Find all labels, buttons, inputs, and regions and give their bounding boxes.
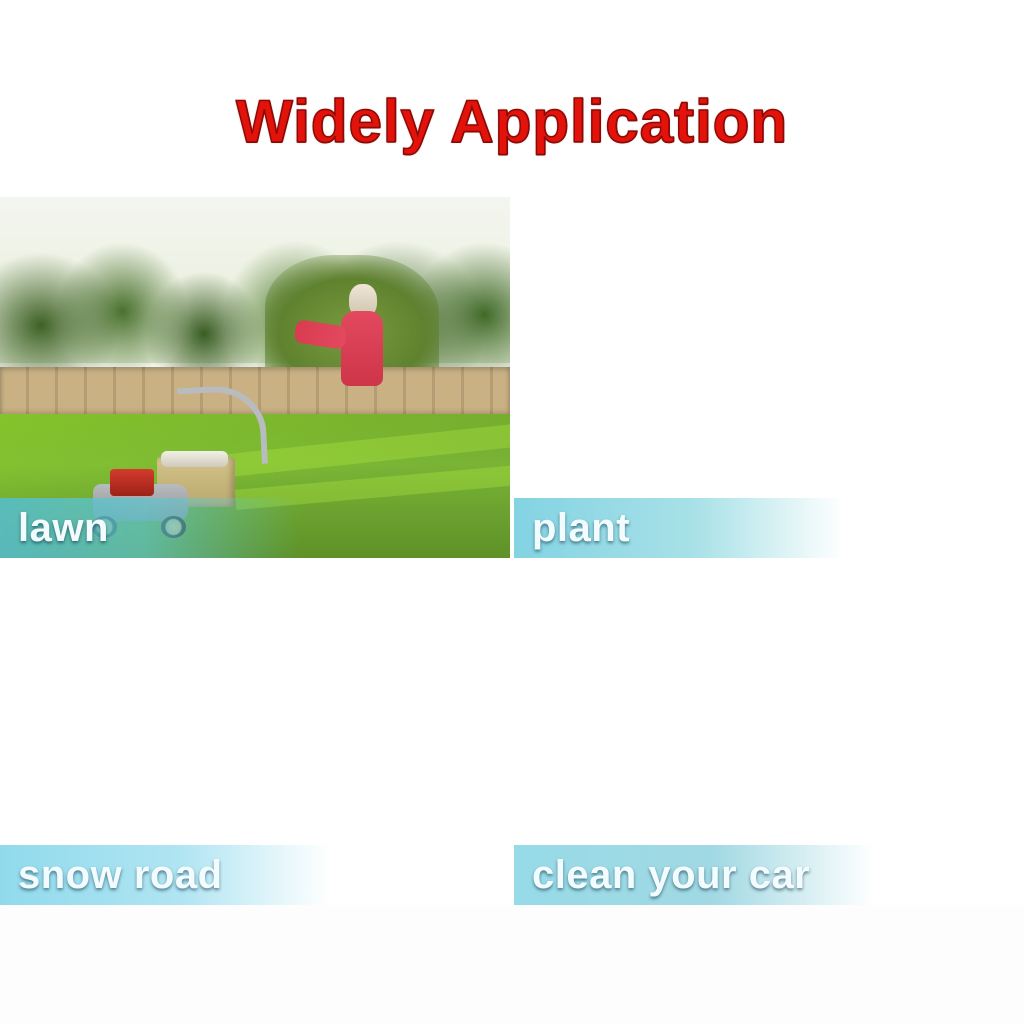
application-grid: lawn — [0, 197, 1024, 905]
panel-caption-clean-your-car: clean your car — [514, 845, 874, 905]
panel-caption-lawn: lawn — [0, 498, 300, 558]
page-title: Widely Application — [236, 87, 788, 156]
mower-cover — [161, 451, 228, 467]
panel-clean-your-car[interactable]: clean your car — [514, 561, 1024, 905]
person-mowing — [321, 284, 403, 493]
mower-engine — [110, 469, 154, 497]
panel-caption-plant: plant — [514, 498, 844, 558]
panel-caption-snow-road: snow road — [0, 845, 330, 905]
title-area: Widely Application — [0, 0, 1024, 197]
panel-lawn[interactable]: lawn — [0, 197, 510, 558]
pink-top — [341, 311, 383, 386]
product-feature-poster: Widely Application — [0, 0, 1024, 1024]
panel-snow-road[interactable]: snow road — [0, 561, 510, 905]
panel-plant[interactable]: plant — [514, 197, 1024, 558]
